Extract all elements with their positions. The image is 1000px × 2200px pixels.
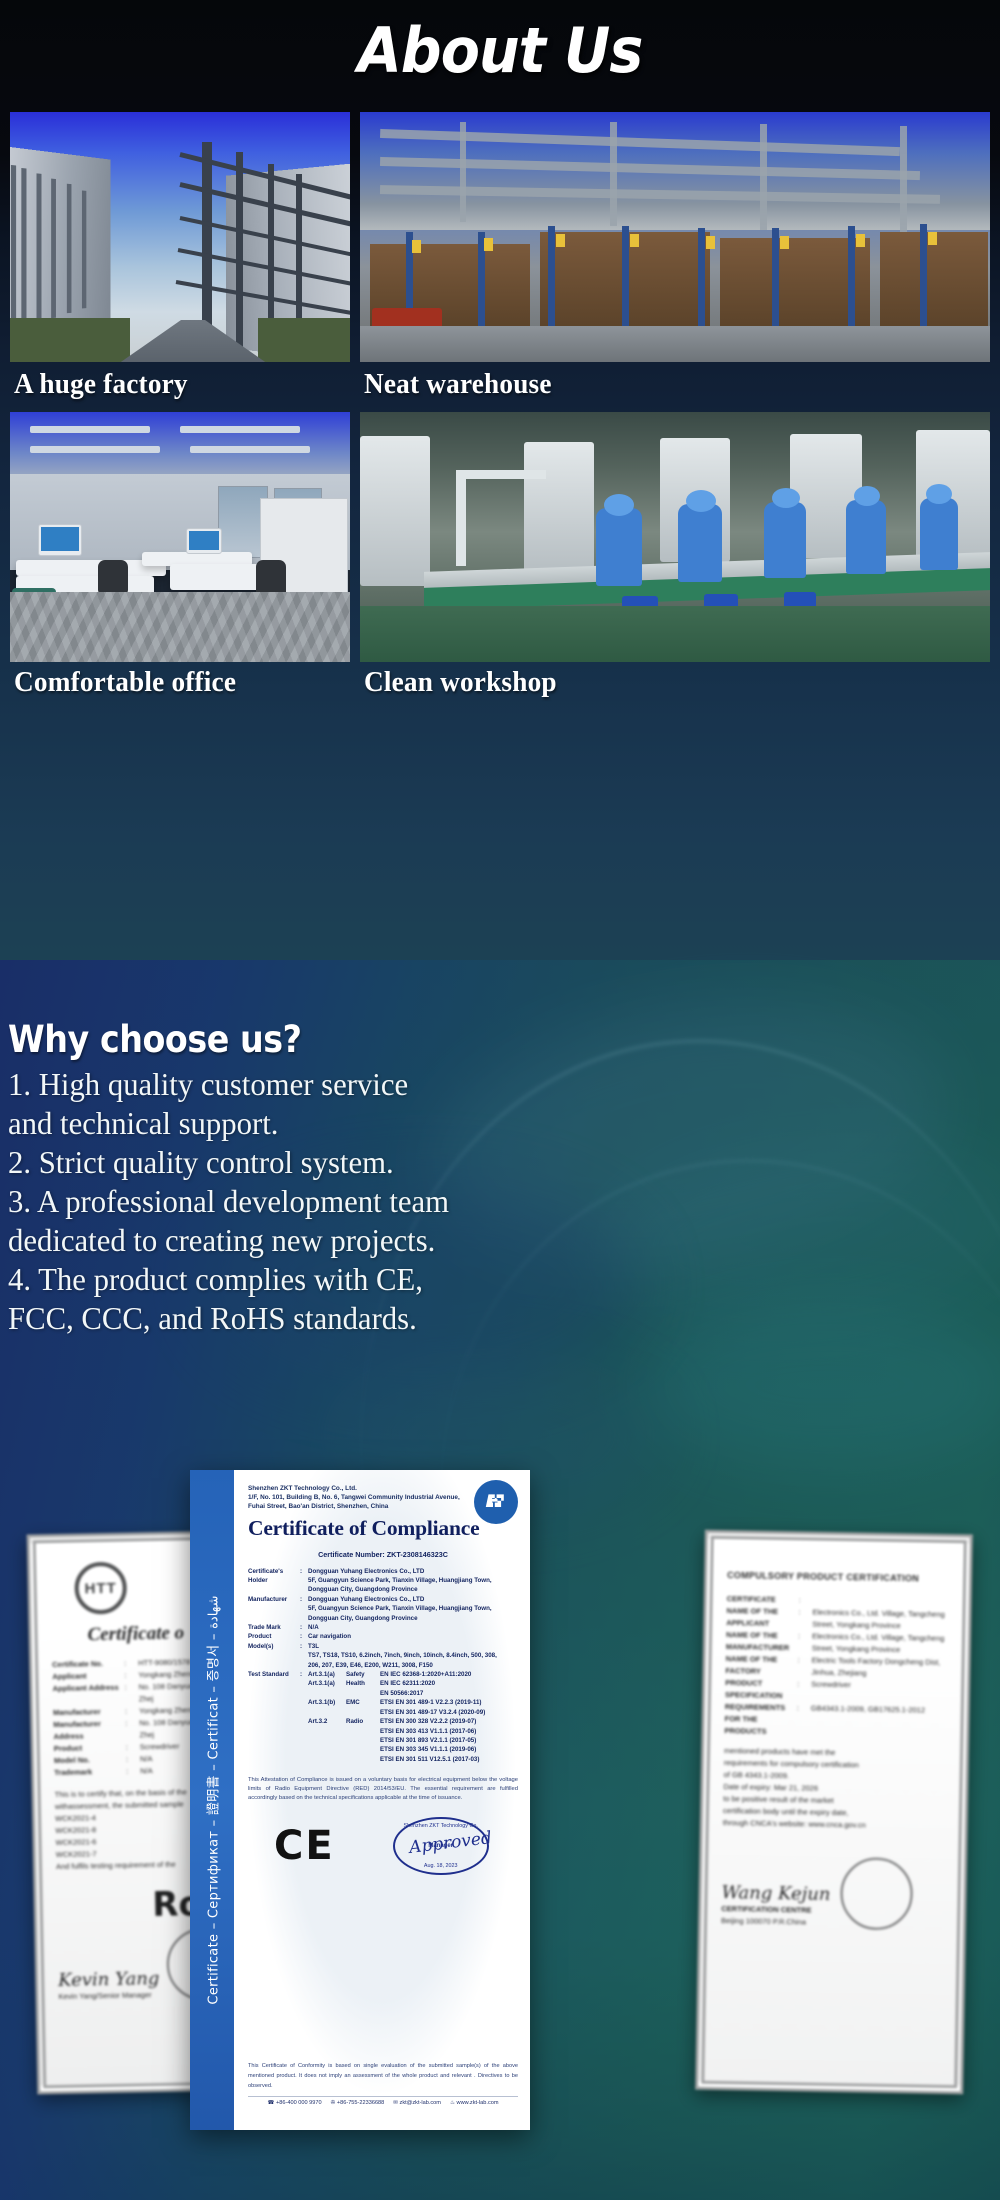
field-colon: : xyxy=(300,1595,308,1604)
right-cert-signature: Wang Kejun xyxy=(721,1882,830,1905)
certificate-spine-text: Certificate – Сертификат – 證明書 – Certifi… xyxy=(203,1595,222,2004)
contact-item: ✉ zkt@zkt-lab.com xyxy=(393,2100,441,2106)
stamp-date: Aug. 18, 2023 xyxy=(395,1863,487,1869)
side-cert-key: NAME OF THE APPLICANT xyxy=(726,1605,792,1630)
test-standard-value: ETSI EN 300 328 V2.2.2 (2019-07) xyxy=(380,1717,518,1726)
test-standard-article: Art.3.1(a) xyxy=(308,1670,346,1679)
contact-item: ☎ +86-400 000 9970 xyxy=(267,2100,321,2106)
field-colon xyxy=(300,1614,308,1623)
field-colon: : xyxy=(300,1632,308,1641)
certificate-field-row: Trade Mark:N/A xyxy=(248,1623,518,1632)
test-standard-row: ETSI EN 303 345 V1.1.1 (2019-06) xyxy=(248,1745,518,1754)
test-standard-kind xyxy=(346,1708,380,1717)
why-choose-line: dedicated to creating new projects. xyxy=(8,1221,680,1260)
globe-icon: ♨ xyxy=(450,2100,457,2106)
side-cert-row: REQUIREMENTS FOR THE PRODUCTS:GB4343.1-2… xyxy=(724,1701,947,1741)
contact-item: ✇ +86-755-22336688 xyxy=(331,2100,385,2106)
side-cert-colon: : xyxy=(126,1742,134,1754)
field-colon: : xyxy=(300,1642,308,1651)
side-cert-value: HTT-9080/1578 xyxy=(138,1656,190,1669)
side-cert-value: Electric Tools Factory Dongcheng Dist, J… xyxy=(811,1655,947,1681)
side-cert-colon: : xyxy=(126,1754,134,1766)
field-value: N/A xyxy=(308,1623,518,1632)
test-standard-kind: Health xyxy=(346,1679,380,1688)
warehouse-interior-photo xyxy=(360,112,990,362)
left-cert-signature: Kevin Yang xyxy=(58,1968,160,1991)
test-standard-label xyxy=(248,1708,300,1717)
contact-text: www.zkt-lab.com xyxy=(457,2100,499,2106)
marks-row: CE Shenzhen ZKT Technology Co. Manager A… xyxy=(248,1817,518,1875)
right-cert-body: mentioned products have met therequireme… xyxy=(723,1745,946,1833)
field-value: T3L xyxy=(308,1642,518,1651)
test-standard-article xyxy=(308,1745,346,1754)
side-cert-value: GB4343.1-2009, GB17625.1-2012 xyxy=(810,1703,925,1741)
side-cert-key: Applicant Address xyxy=(53,1682,119,1707)
field-colon xyxy=(300,1576,308,1585)
side-cert-colon: : xyxy=(124,1682,132,1706)
side-cert-colon: : xyxy=(799,1594,807,1606)
test-standard-colon xyxy=(300,1689,308,1698)
test-standard-row: Test Standard:Art.3.1(a)SafetyEN IEC 623… xyxy=(248,1670,518,1679)
test-standard-colon xyxy=(300,1679,308,1688)
test-standard-row: Art.3.1(b)EMCETSI EN 301 489-1 V2.2.3 (2… xyxy=(248,1698,518,1707)
test-standard-label xyxy=(248,1679,300,1688)
certificate-field-row: 5F, Guangyun Science Park, Tianxin Villa… xyxy=(248,1604,518,1613)
workshop-assembly-line-photo xyxy=(360,412,990,662)
side-cert-colon: : xyxy=(797,1654,805,1678)
test-standard-label xyxy=(248,1755,300,1764)
side-cert-key: PRODUCT SPECIFICATION xyxy=(725,1677,791,1702)
field-value: Dongguan City, Guangdong Province xyxy=(308,1585,518,1594)
test-standard-article: Art.3.2 xyxy=(308,1717,346,1726)
why-choose-us-title: Why choose us? xyxy=(8,1018,638,1061)
side-cert-value: Electronics Co., Ltd. Village, Tangcheng… xyxy=(812,1607,948,1633)
caption-workshop: Clean workshop xyxy=(364,666,557,699)
side-cert-value: Electronics Co., Ltd. Village, Tangcheng… xyxy=(812,1631,948,1657)
certificate-field-row: Manufacturer:Dongguan Yuhang Electronics… xyxy=(248,1595,518,1604)
side-cert-key: REQUIREMENTS FOR THE PRODUCTS xyxy=(724,1701,791,1738)
right-cert-heading: COMPULSORY PRODUCT CERTIFICATION xyxy=(727,1569,949,1585)
test-standard-colon xyxy=(300,1736,308,1745)
field-colon: : xyxy=(300,1567,308,1576)
ccc-certificate-image: COMPULSORY PRODUCT CERTIFICATION CERTIFI… xyxy=(695,1530,973,2095)
field-label xyxy=(248,1651,300,1660)
page-header: About Us xyxy=(0,0,1000,105)
test-standard-kind xyxy=(346,1745,380,1754)
why-choose-line: 2. Strict quality control system. xyxy=(8,1143,680,1182)
test-standard-kind xyxy=(346,1736,380,1745)
certificate-footer: This Certificate of Conformity is based … xyxy=(248,2061,518,2106)
phone-icon: ☎ xyxy=(267,2100,276,2106)
caption-office: Comfortable office xyxy=(14,666,236,699)
field-label: Certificate's xyxy=(248,1567,300,1576)
left-cert-signature-title: Kevin Yang/Senior Manager xyxy=(58,1989,159,2003)
test-standard-row: EN 50566:2017 xyxy=(248,1689,518,1698)
why-choose-us-section: Why choose us? 1. High quality customer … xyxy=(8,1018,708,1338)
test-standard-article xyxy=(308,1736,346,1745)
contact-bar: ☎ +86-400 000 9970✇ +86-755-22336688✉ zk… xyxy=(248,2096,518,2106)
test-standard-article xyxy=(308,1708,346,1717)
field-label: Holder xyxy=(248,1576,300,1585)
test-standard-colon xyxy=(300,1745,308,1754)
side-cert-colon: : xyxy=(798,1630,806,1654)
office-interior-photo xyxy=(10,412,350,662)
side-cert-body-line: through CNCA's website: www.cnca.gov.cn xyxy=(723,1817,945,1833)
test-standard-label xyxy=(248,1727,300,1736)
certificate-body: Shenzhen ZKT Technology Co., Ltd. 1/F, N… xyxy=(234,1470,530,2130)
why-choose-line: 4. The product complies with CE, xyxy=(8,1260,680,1299)
field-value: Dongguan Yuhang Electronics Co., LTD xyxy=(308,1567,518,1576)
test-standard-value: ETSI EN 301 893 V2.1.1 (2017-05) xyxy=(380,1736,518,1745)
zkt-lab-logo xyxy=(474,1480,518,1524)
caption-factory: A huge factory xyxy=(14,368,188,401)
test-standard-article: Art.3.1(a) xyxy=(308,1679,346,1688)
side-cert-colon: : xyxy=(798,1606,806,1630)
field-value: Dongguan City, Guangdong Province xyxy=(308,1614,518,1623)
side-cert-value: N/A xyxy=(140,1765,153,1777)
test-standard-value: ETSI EN 301 489-1 V2.2.3 (2019-11) xyxy=(380,1698,518,1707)
test-standard-value: ETSI EN 301 511 V12.5.1 (2017-03) xyxy=(380,1755,518,1764)
test-standard-colon xyxy=(300,1708,308,1717)
certificate-number: Certificate Number: ZKT-2308146323C xyxy=(248,1550,518,1559)
field-colon xyxy=(300,1604,308,1613)
field-value: 206, 207, E39, E46, E200, W211, 3008, F1… xyxy=(308,1661,518,1670)
test-standard-label: Test Standard xyxy=(248,1670,300,1679)
ce-mark-icon: CE xyxy=(274,1823,335,1869)
field-value: Dongguan Yuhang Electronics Co., LTD xyxy=(308,1595,518,1604)
test-standard-row: ETSI EN 301 511 V12.5.1 (2017-03) xyxy=(248,1755,518,1764)
certificates-section: HTT Certificate o Certificate No.:HTT-90… xyxy=(0,1460,1000,2160)
side-cert-value: Screwdriver xyxy=(140,1741,180,1754)
certificate-test-standards: Test Standard:Art.3.1(a)SafetyEN IEC 623… xyxy=(248,1670,518,1764)
test-standard-value: ETSI EN 303 413 V1.1.1 (2017-06) xyxy=(380,1727,518,1736)
test-standard-value: EN IEC 62368-1:2020+A11:2020 xyxy=(380,1670,518,1679)
field-label: Product xyxy=(248,1632,300,1641)
field-label xyxy=(248,1585,300,1594)
test-standard-value: EN IEC 62311:2020 xyxy=(380,1679,518,1688)
side-cert-colon: : xyxy=(125,1706,133,1718)
side-cert-colon: : xyxy=(797,1678,805,1702)
right-cert-address: Beijing 100070 P.R.China xyxy=(721,1915,830,1929)
test-standard-label xyxy=(248,1736,300,1745)
footer-note: This Certificate of Conformity is based … xyxy=(248,2061,518,2091)
certificate-field-row: Certificate's:Dongguan Yuhang Electronic… xyxy=(248,1567,518,1576)
test-standard-row: Art.3.2RadioETSI EN 300 328 V2.2.2 (2019… xyxy=(248,1717,518,1726)
contact-text: zkt@zkt-lab.com xyxy=(400,2100,441,2106)
page-title: About Us xyxy=(40,14,960,87)
why-choose-line: 1. High quality customer service xyxy=(8,1065,680,1104)
field-value: 5F, Guangyun Science Park, Tianxin Villa… xyxy=(308,1576,518,1585)
certificate-field-row: Model(s):T3L xyxy=(248,1642,518,1651)
contact-item: ♨ www.zkt-lab.com xyxy=(450,2100,499,2106)
test-standard-colon xyxy=(300,1727,308,1736)
certificate-fields: Certificate's:Dongguan Yuhang Electronic… xyxy=(248,1567,518,1670)
test-standard-colon xyxy=(300,1698,308,1707)
test-standard-kind xyxy=(346,1727,380,1736)
why-choose-line: and technical support. xyxy=(8,1104,680,1143)
field-label: Trade Mark xyxy=(248,1623,300,1632)
factory-exterior-photo xyxy=(10,112,350,362)
test-standard-label xyxy=(248,1745,300,1754)
caption-warehouse: Neat warehouse xyxy=(364,368,552,401)
test-standard-value: ETSI EN 303 345 V1.1.1 (2019-06) xyxy=(380,1745,518,1754)
field-value: TS7, TS18, TS10, 6.2inch, 7inch, 9inch, … xyxy=(308,1651,518,1660)
side-cert-colon: : xyxy=(124,1670,132,1682)
field-label xyxy=(248,1614,300,1623)
stamp-top-text: Shenzhen ZKT Technology Co. xyxy=(395,1823,487,1829)
certificate-heading: Certificate of Compliance xyxy=(248,1516,518,1541)
test-standard-row: ETSI EN 303 413 V1.1.1 (2017-06) xyxy=(248,1727,518,1736)
test-standard-value: ETSI EN 301 489-17 V3.2.4 (2020-09) xyxy=(380,1708,518,1717)
about-us-page: About Us A huge factory xyxy=(0,0,1000,2200)
side-cert-colon: : xyxy=(124,1658,132,1670)
side-cert-key: NAME OF THE FACTORY xyxy=(725,1653,791,1678)
test-standard-kind: Radio xyxy=(346,1717,380,1726)
field-colon: : xyxy=(300,1623,308,1632)
attestation-note: This Attestation of Compliance is issued… xyxy=(248,1776,518,1803)
side-cert-key: CERTIFICATE xyxy=(727,1593,793,1606)
test-standard-kind xyxy=(346,1689,380,1698)
test-standard-row: Art.3.1(a)HealthEN IEC 62311:2020 xyxy=(248,1679,518,1688)
certificate-field-row: TS7, TS18, TS10, 6.2inch, 7inch, 9inch, … xyxy=(248,1651,518,1660)
stamp-signature: Approved xyxy=(408,1828,493,1858)
test-standard-article xyxy=(308,1727,346,1736)
field-value: 5F, Guangyun Science Park, Tianxin Villa… xyxy=(308,1604,518,1613)
side-cert-value: N/A xyxy=(140,1753,153,1765)
field-colon xyxy=(300,1651,308,1660)
test-standard-article: Art.3.1(b) xyxy=(308,1698,346,1707)
side-cert-key: NAME OF THE MANUFACTURER xyxy=(726,1629,792,1654)
htt-logo: HTT xyxy=(74,1562,127,1615)
test-standard-label xyxy=(248,1717,300,1726)
contact-text: +86-755-22336688 xyxy=(337,2100,384,2106)
test-standard-row: ETSI EN 301 893 V2.1.1 (2017-05) xyxy=(248,1736,518,1745)
test-standard-kind xyxy=(346,1755,380,1764)
contact-text: +86-400 000 9970 xyxy=(276,2100,322,2106)
right-cert-rows: CERTIFICATE:NAME OF THE APPLICANT:Electr… xyxy=(724,1593,948,1741)
field-value: Car navigation xyxy=(308,1632,518,1641)
test-standard-kind: Safety xyxy=(346,1670,380,1679)
right-cert-stamp xyxy=(840,1857,913,1930)
certificate-spine: Certificate – Сертификат – 證明書 – Certifi… xyxy=(190,1470,234,2130)
test-standard-value: EN 50566:2017 xyxy=(380,1689,518,1698)
certificate-field-row: Holder5F, Guangyun Science Park, Tianxin… xyxy=(248,1576,518,1585)
certificate-field-row: Product:Car navigation xyxy=(248,1632,518,1641)
side-cert-colon: : xyxy=(796,1702,805,1738)
certificate-field-row: Dongguan City, Guangdong Province xyxy=(248,1585,518,1594)
field-label: Model(s) xyxy=(248,1642,300,1651)
certificate-field-row: 206, 207, E39, E46, E200, W211, 3008, F1… xyxy=(248,1661,518,1670)
test-standard-row: ETSI EN 301 489-17 V3.2.4 (2020-09) xyxy=(248,1708,518,1717)
field-colon xyxy=(300,1661,308,1670)
test-standard-colon xyxy=(300,1717,308,1726)
certificate-of-compliance: Certificate – Сертификат – 證明書 – Certifi… xyxy=(190,1470,530,2130)
side-cert-key: Trademark xyxy=(54,1766,120,1779)
test-standard-article xyxy=(308,1755,346,1764)
test-standard-colon: : xyxy=(300,1670,308,1679)
field-label: Manufacturer xyxy=(248,1595,300,1604)
test-standard-colon xyxy=(300,1755,308,1764)
side-cert-colon: : xyxy=(125,1718,133,1742)
side-cert-value: Screwdriver xyxy=(811,1679,851,1704)
why-choose-line: 3. A professional development team xyxy=(8,1182,680,1221)
test-standard-label xyxy=(248,1689,300,1698)
certificate-field-row: Dongguan City, Guangdong Province xyxy=(248,1614,518,1623)
side-cert-key: Manufacturer Address xyxy=(53,1718,119,1743)
field-label xyxy=(248,1661,300,1670)
test-standard-kind: EMC xyxy=(346,1698,380,1707)
field-colon xyxy=(300,1585,308,1594)
test-standard-label xyxy=(248,1698,300,1707)
field-label xyxy=(248,1604,300,1613)
test-standard-article xyxy=(308,1689,346,1698)
why-choose-line: FCC, CCC, and RoHS standards. xyxy=(8,1299,680,1338)
side-cert-colon: : xyxy=(126,1766,134,1778)
approval-stamp: Shenzhen ZKT Technology Co. Manager Appr… xyxy=(393,1817,489,1875)
